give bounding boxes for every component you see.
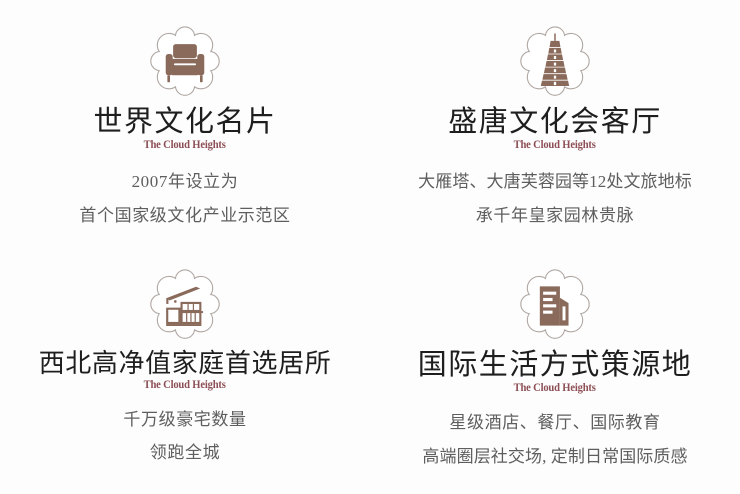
card-body: 千万级豪宅数量 领跑全城 bbox=[123, 403, 246, 469]
card-body-line: 千万级豪宅数量 bbox=[123, 403, 246, 436]
brand-tagline: The Cloud Heights bbox=[514, 382, 596, 394]
card-body-line: 领跑全城 bbox=[123, 436, 246, 469]
card-body-line: 2007年设立为 bbox=[79, 165, 290, 198]
card-heading: 西北高净值家庭首选居所 bbox=[39, 349, 332, 378]
armchair-icon bbox=[144, 22, 226, 104]
card-body-line: 首个国家级文化产业示范区 bbox=[79, 199, 290, 232]
feature-card-luxury-home: 西北高净值家庭首选居所 The Cloud Heights 千万级豪宅数量 领跑… bbox=[0, 247, 370, 494]
card-heading: 盛唐文化会客厅 bbox=[448, 106, 662, 138]
feature-card-tang-culture: 盛唐文化会客厅 The Cloud Heights 大雁塔、大唐芙蓉园等12处文… bbox=[370, 0, 740, 247]
office-building-icon bbox=[514, 265, 596, 347]
brand-tagline: The Cloud Heights bbox=[514, 139, 596, 151]
card-heading: 国际生活方式策源地 bbox=[418, 349, 693, 381]
feature-grid: 世界文化名片 The Cloud Heights 2007年设立为 首个国家级文… bbox=[0, 0, 740, 494]
brand-tagline: The Cloud Heights bbox=[144, 379, 226, 391]
card-heading: 世界文化名片 bbox=[93, 106, 276, 138]
villa-house-icon bbox=[144, 265, 226, 347]
card-body: 星级酒店、餐厅、国际教育 高端圈层社交场, 定制日常国际质感 bbox=[422, 406, 687, 472]
pagoda-icon bbox=[514, 22, 596, 104]
feature-card-international-lifestyle: 国际生活方式策源地 The Cloud Heights 星级酒店、餐厅、国际教育… bbox=[370, 247, 740, 494]
card-body: 2007年设立为 首个国家级文化产业示范区 bbox=[79, 165, 290, 231]
brand-tagline: The Cloud Heights bbox=[144, 139, 226, 151]
card-body-line: 承千年皇家园林贵脉 bbox=[418, 199, 692, 232]
card-body-line: 大雁塔、大唐芙蓉园等12处文旅地标 bbox=[418, 165, 692, 198]
card-body: 大雁塔、大唐芙蓉园等12处文旅地标 承千年皇家园林贵脉 bbox=[418, 165, 692, 231]
feature-card-world-culture: 世界文化名片 The Cloud Heights 2007年设立为 首个国家级文… bbox=[0, 0, 370, 247]
card-body-line: 高端圈层社交场, 定制日常国际质感 bbox=[422, 440, 687, 473]
card-body-line: 星级酒店、餐厅、国际教育 bbox=[422, 406, 687, 439]
